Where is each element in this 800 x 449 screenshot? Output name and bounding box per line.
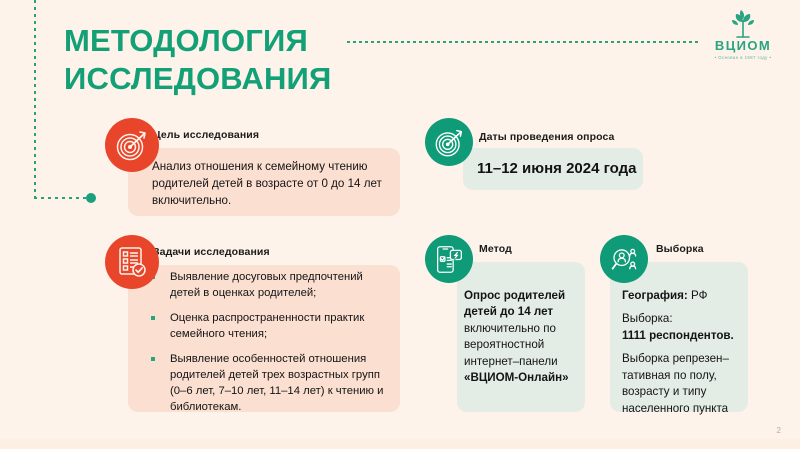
tree-icon <box>702 8 784 38</box>
method-header: Метод <box>479 243 512 255</box>
list-item: Выявление досуговых предпочтений детей в… <box>148 269 396 301</box>
decorative-dotted-title-rule <box>347 41 699 43</box>
logo-brand-text: ВЦИОМ <box>702 39 784 52</box>
decorative-dotted-horizontal-line <box>34 197 90 199</box>
sample-size-value: 1111 респондентов. <box>622 329 734 342</box>
dates-value: 11–12 июня 2024 года <box>477 160 636 177</box>
slide-canvas: МЕТОДОЛОГИЯ ИССЛЕДОВАНИЯ ВЦИОМ • Основан… <box>0 0 800 449</box>
sample-geography-line: География: РФ <box>622 288 748 304</box>
page-title-line-1: МЕТОДОЛОГИЯ <box>64 23 308 58</box>
target-icon <box>425 118 473 166</box>
list-item: Оценка распространенности практик семейн… <box>148 310 396 342</box>
vciom-logo: ВЦИОМ • Основан в 1987 году • <box>702 8 784 60</box>
sample-size-label: Выборка: <box>622 312 673 325</box>
decorative-dotted-vertical-line <box>34 0 36 200</box>
logo-tagline: • Основан в 1987 году • <box>702 55 784 60</box>
method-regular-mid: включительно по вероятностной интернет–п… <box>464 322 558 368</box>
sample-geography-value: РФ <box>688 289 708 302</box>
page-number: 2 <box>777 426 781 435</box>
page-title-line-2: ИССЛЕДОВАНИЯ <box>64 60 354 98</box>
sample-header: Выборка <box>656 243 704 255</box>
list-item: Выявление особенностей отношения родител… <box>148 351 396 415</box>
tasks-header: Задачи исследования <box>153 246 270 258</box>
method-bold-lead: Опрос родителей детей до 14 лет <box>464 289 565 318</box>
method-text: Опрос родителей детей до 14 лет включите… <box>464 288 582 387</box>
target-icon <box>105 118 159 172</box>
decorative-dot-terminator <box>86 193 96 203</box>
dates-header: Даты проведения опроса <box>479 131 614 143</box>
smartphone-survey-icon <box>425 235 473 283</box>
sample-description: Выборка репрезен–тативная по полу, возра… <box>622 351 748 417</box>
goal-text: Анализ отношения к семейному чтению роди… <box>152 159 396 210</box>
sample-geography-label: География: <box>622 289 688 302</box>
method-bold-tail: «ВЦИОМ-Онлайн» <box>464 371 569 384</box>
tasks-list: Выявление досуговых предпочтений детей в… <box>148 269 396 424</box>
checklist-icon <box>105 235 159 289</box>
sample-text: География: РФ Выборка:1111 респондентов.… <box>622 288 748 424</box>
goal-header: Цель исследования <box>153 129 259 141</box>
footer-strip <box>0 439 800 449</box>
magnifier-people-icon <box>600 235 648 283</box>
sample-size-line: Выборка:1111 респондентов. <box>622 311 748 344</box>
page-title: МЕТОДОЛОГИЯ ИССЛЕДОВАНИЯ <box>64 22 354 98</box>
